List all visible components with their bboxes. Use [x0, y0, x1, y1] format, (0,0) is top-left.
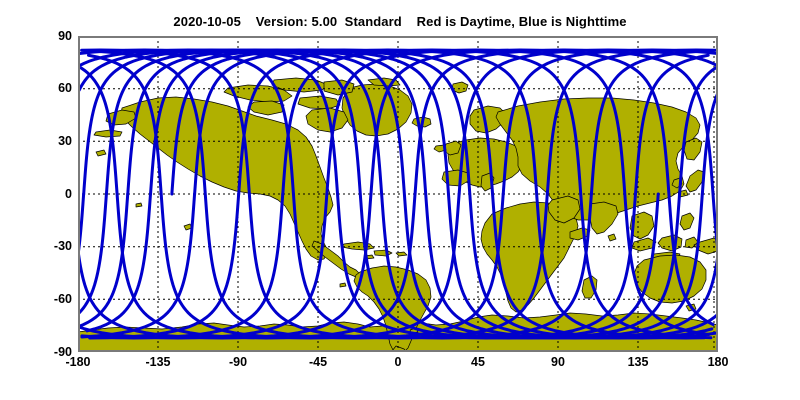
y-tick-label-60: 60 [30, 81, 72, 95]
x-tick-label-180: 180 [688, 355, 748, 369]
x-tick-label--180: -180 [48, 355, 108, 369]
y-tick-label-30: 30 [30, 134, 72, 148]
y-tick-label--60: -60 [30, 292, 72, 306]
y-tick-label-0: 0 [30, 187, 72, 201]
map-plot-area [78, 36, 718, 352]
x-tick-label-90: 90 [528, 355, 588, 369]
x-tick-label-135: 135 [608, 355, 668, 369]
chart-title: 2020-10-05 Version: 5.00 Standard Red is… [0, 14, 800, 29]
x-tick-label-45: 45 [448, 355, 508, 369]
x-tick-label--90: -90 [208, 355, 268, 369]
land-pacific-islands [136, 203, 142, 207]
y-tick-label-90: 90 [30, 29, 72, 43]
y-tick-label--30: -30 [30, 239, 72, 253]
x-tick-label--135: -135 [128, 355, 188, 369]
x-tick-label-0: 0 [368, 355, 428, 369]
land-galapagos [340, 283, 346, 287]
world-map-svg [78, 36, 718, 352]
x-tick-label--45: -45 [288, 355, 348, 369]
world-map-ground-track-figure: 2020-10-05 Version: 5.00 Standard Red is… [0, 0, 800, 400]
